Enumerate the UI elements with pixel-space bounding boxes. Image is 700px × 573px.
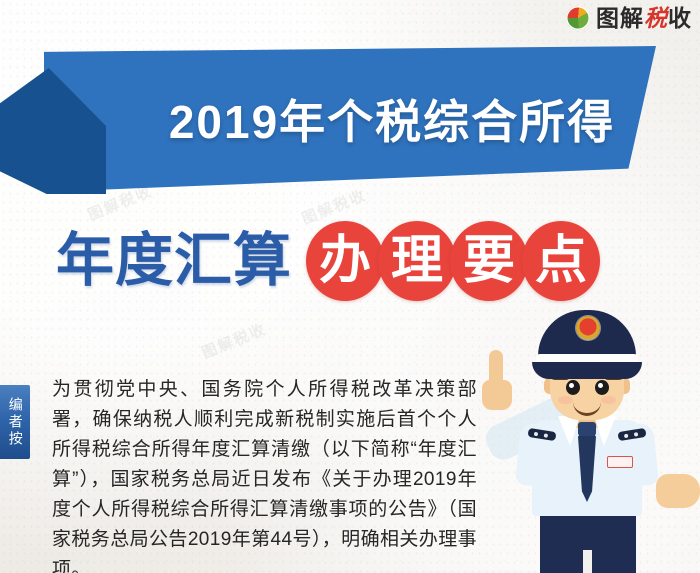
officer-trouser-gap — [583, 550, 592, 573]
officer-blush-right — [601, 396, 616, 404]
officer-right-arm — [656, 474, 700, 508]
officer-eye-right — [595, 380, 609, 395]
infographic-poster: 图解税收 图解税收 图解税收 图解税收 2019年个税综合所得 年度汇算 办 理… — [0, 0, 700, 573]
pie-chart-icon — [566, 6, 590, 30]
national-emblem-icon — [576, 316, 600, 340]
brand-logo-text-suffix: 收 — [668, 5, 692, 31]
ribbon-banner: 2019年个税综合所得 — [0, 44, 700, 194]
officer-tie-knot — [578, 422, 596, 436]
brand-logo-text-prefix: 图解 — [596, 5, 644, 31]
editor-note-tab: 编者按 — [0, 385, 30, 459]
brand-logo-text-accent: 税 — [644, 5, 668, 31]
headline-red-char: 要 — [450, 221, 528, 301]
editor-note-paragraph: 为贯彻党中央、国务院个人所得税改革决策部署，确保纳税人顺利完成新税制实施后首个个… — [52, 375, 477, 573]
brand-logo-text: 图解税收 — [596, 7, 692, 30]
officer-name-badge — [607, 456, 633, 468]
headline-red-char: 点 — [522, 221, 600, 301]
headline-red-group: 办 理 要 点 — [306, 221, 600, 301]
officer-blush-left — [558, 396, 573, 404]
headline-red-char: 理 — [378, 221, 456, 301]
officer-eye-left — [566, 380, 580, 395]
officer-cap-brim — [532, 362, 642, 379]
editor-note-tab-label: 编者按 — [6, 397, 24, 448]
headline-red-char: 办 — [306, 221, 384, 301]
headline-blue-text: 年度汇算 — [56, 232, 292, 290]
brand-logo[interactable]: 图解税收 — [566, 6, 692, 30]
main-headline: 年度汇算 办 理 要 点 — [0, 215, 700, 307]
banner-title: 2019年个税综合所得 — [44, 46, 656, 192]
hand-palm — [482, 380, 512, 410]
pointing-up-hand-icon — [476, 324, 502, 380]
tax-officer-illustration — [470, 296, 700, 573]
